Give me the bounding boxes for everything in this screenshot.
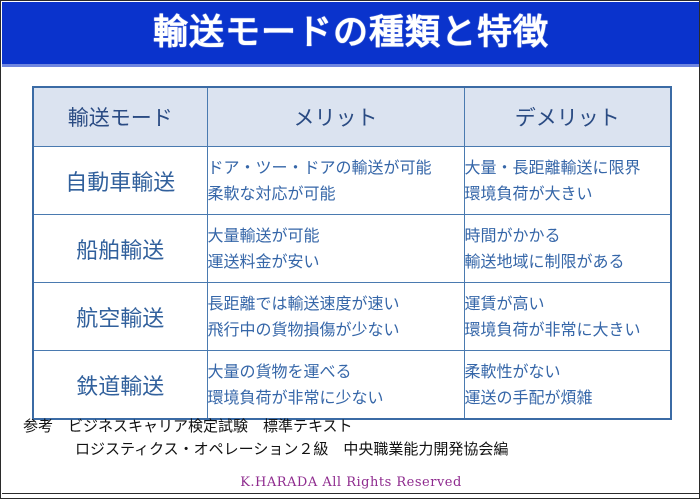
demerit-line: 輸送地域に制限がある xyxy=(465,249,671,275)
cell-demerit: 時間がかかる 輸送地域に制限がある xyxy=(464,215,671,283)
footer-divider xyxy=(2,493,700,494)
cell-demerit: 運賃が高い 環境負荷が非常に大きい xyxy=(464,283,671,351)
cell-merit: 大量の貨物を運べる 環境負荷が非常に少ない xyxy=(207,351,464,420)
page-title: 輸送モードの種類と特徴 xyxy=(153,16,549,51)
cell-merit: 長距離では輸送速度が速い 飛行中の貨物損傷が少ない xyxy=(207,283,464,351)
demerit-line: 運送の手配が煩雑 xyxy=(465,385,671,411)
cell-mode: 航空輸送 xyxy=(33,283,207,351)
merit-line: 大量輸送が可能 xyxy=(208,223,464,249)
merit-line: 大量の貨物を運べる xyxy=(208,359,464,385)
demerit-line: 大量・長距離輸送に限界 xyxy=(465,155,671,181)
title-banner: 輸送モードの種類と特徴 xyxy=(2,2,700,64)
merit-line: 長距離では輸送速度が速い xyxy=(208,291,464,317)
table-row: 航空輸送 長距離では輸送速度が速い 飛行中の貨物損傷が少ない 運賃が高い 環境負… xyxy=(33,283,671,351)
demerit-line: 環境負荷が非常に大きい xyxy=(465,317,671,343)
title-underline-divider xyxy=(2,64,700,67)
footnote-line-1: 参考 ビジネスキャリア検定試験 標準テキスト xyxy=(23,417,353,435)
table-row: 自動車輸送 ドア・ツー・ドアの輸送が可能 柔軟な対応が可能 大量・長距離輸送に限… xyxy=(33,147,671,215)
column-header-demerit: デメリット xyxy=(464,87,671,147)
table-body: 自動車輸送 ドア・ツー・ドアの輸送が可能 柔軟な対応が可能 大量・長距離輸送に限… xyxy=(33,147,671,420)
demerit-line: 運賃が高い xyxy=(465,291,671,317)
cell-demerit: 大量・長距離輸送に限界 環境負荷が大きい xyxy=(464,147,671,215)
copyright-footer: K.HARADA All Rights Reserved xyxy=(1,475,700,490)
merit-line: 柔軟な対応が可能 xyxy=(208,181,464,207)
merit-line: 飛行中の貨物損傷が少ない xyxy=(208,317,464,343)
merit-line: 環境負荷が非常に少ない xyxy=(208,385,464,411)
column-header-mode: 輸送モード xyxy=(33,87,207,147)
merit-line: 運送料金が安い xyxy=(208,249,464,275)
column-header-merit: メリット xyxy=(207,87,464,147)
cell-merit: 大量輸送が可能 運送料金が安い xyxy=(207,215,464,283)
cell-mode: 船舶輸送 xyxy=(33,215,207,283)
slide: 輸送モードの種類と特徴 輸送モード メリット デメリット 自動車輸送 ドア・ツー… xyxy=(0,0,700,499)
transport-mode-table: 輸送モード メリット デメリット 自動車輸送 ドア・ツー・ドアの輸送が可能 柔軟… xyxy=(32,86,672,420)
table-row: 船舶輸送 大量輸送が可能 運送料金が安い 時間がかかる 輸送地域に制限がある xyxy=(33,215,671,283)
cell-merit: ドア・ツー・ドアの輸送が可能 柔軟な対応が可能 xyxy=(207,147,464,215)
table-header-row: 輸送モード メリット デメリット xyxy=(33,87,671,147)
footnote-line-2: ロジスティクス・オペレーション２級 中央職業能力開発協会編 xyxy=(23,438,508,461)
demerit-line: 環境負荷が大きい xyxy=(465,181,671,207)
source-footnote: 参考 ビジネスキャリア検定試験 標準テキスト ロジスティクス・オペレーション２級… xyxy=(23,415,508,460)
merit-line: ドア・ツー・ドアの輸送が可能 xyxy=(208,155,464,181)
demerit-line: 時間がかかる xyxy=(465,223,671,249)
cell-mode: 鉄道輸送 xyxy=(33,351,207,420)
table-header: 輸送モード メリット デメリット xyxy=(33,87,671,147)
demerit-line: 柔軟性がない xyxy=(465,359,671,385)
table-row: 鉄道輸送 大量の貨物を運べる 環境負荷が非常に少ない 柔軟性がない 運送の手配が… xyxy=(33,351,671,420)
cell-demerit: 柔軟性がない 運送の手配が煩雑 xyxy=(464,351,671,420)
cell-mode: 自動車輸送 xyxy=(33,147,207,215)
